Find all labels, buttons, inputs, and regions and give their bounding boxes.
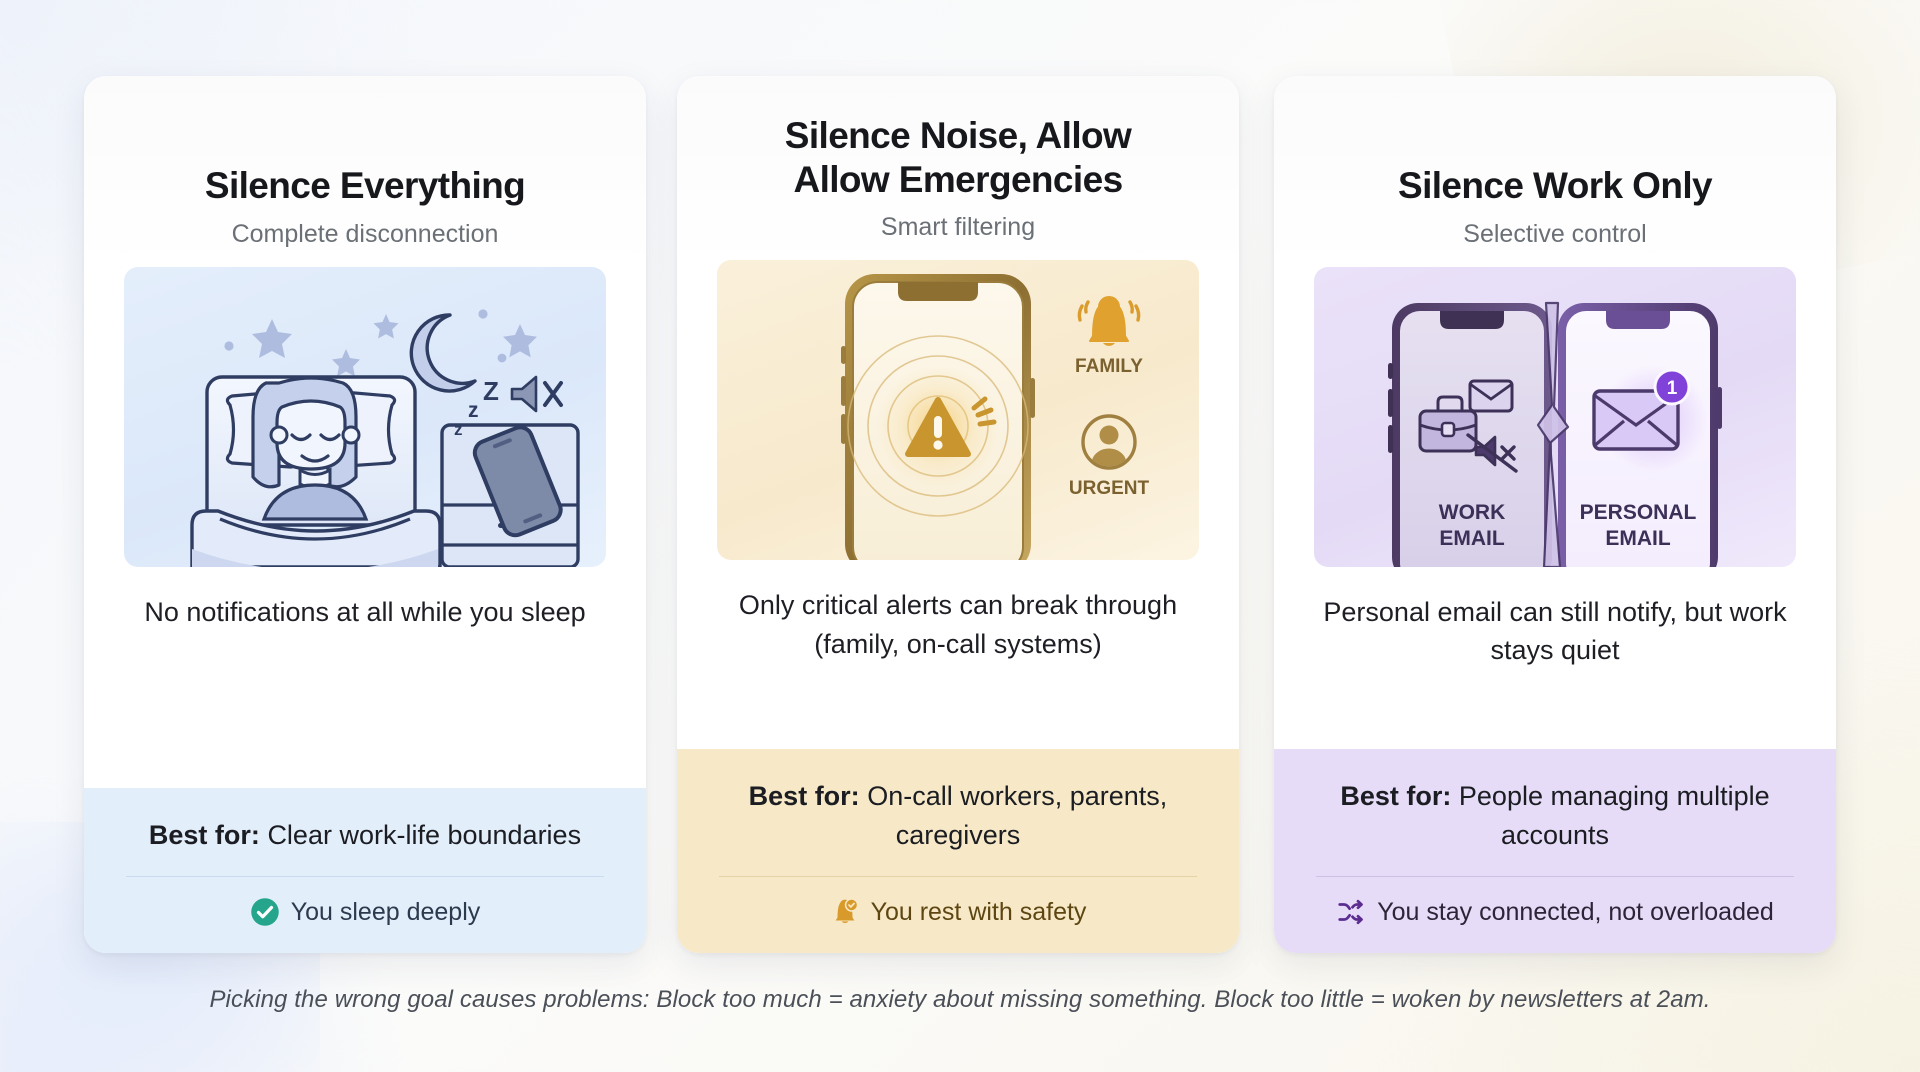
split-phone-email-icon: WORK EMAIL [1314, 267, 1796, 567]
footer-divider [126, 876, 604, 877]
card-footer: Best for: Clear work-life boundaries You… [84, 788, 646, 953]
badge-label-urgent: URGENT [1069, 478, 1150, 499]
best-for-value: On-call workers, parents, caregivers [867, 781, 1167, 849]
card-silence-noise-allow-emergencies[interactable]: Silence Noise, Allow Allow Emergencies S… [677, 76, 1239, 953]
comparison-card-grid: Silence Everything Complete disconnectio… [0, 0, 1920, 1072]
outcome-text: You stay connected, not overloaded [1377, 898, 1774, 927]
page-footnote: Picking the wrong goal causes problems: … [0, 986, 1920, 1014]
best-for-line: Best for: People managing multiple accou… [1312, 777, 1798, 854]
card-title-line-2: Allow Emergencies [707, 158, 1209, 202]
svg-text:z: z [468, 399, 479, 422]
outcome-text: You sleep deeply [291, 898, 481, 927]
card-subtitle: Selective control [1304, 220, 1806, 249]
footer-divider [719, 876, 1197, 877]
badge-label-family: FAMILY [1075, 356, 1143, 377]
card-header: Silence Everything Complete disconnectio… [84, 76, 646, 249]
check-circle-icon [250, 897, 280, 927]
card-silence-work-only[interactable]: Silence Work Only Selective control [1274, 76, 1836, 953]
illustration-container: WORK EMAIL [1274, 249, 1836, 567]
best-for-value: Clear work-life boundaries [267, 820, 581, 850]
card-title: Silence Noise, Allow Allow Emergencies [707, 114, 1209, 201]
card-subtitle: Smart filtering [707, 213, 1209, 242]
card-footer: Best for: On-call workers, parents, care… [677, 749, 1239, 953]
notification-badge-count: 1 [1667, 378, 1678, 399]
best-for-line: Best for: On-call workers, parents, care… [715, 777, 1201, 854]
shuffle-icon [1336, 897, 1366, 927]
card-header: Silence Work Only Selective control [1274, 76, 1836, 249]
screen-label-work-line2: EMAIL [1439, 527, 1505, 550]
illustration-container: z z Z [84, 249, 646, 567]
screen-label-personal-line2: EMAIL [1605, 527, 1671, 550]
card-silence-everything[interactable]: Silence Everything Complete disconnectio… [84, 76, 646, 953]
card-title-line-1: Silence Noise, Allow [707, 114, 1209, 158]
card-description: No notifications at all while you sleep [118, 593, 612, 631]
card-title: Silence Work Only [1304, 114, 1806, 208]
best-for-label: Best for: [1340, 781, 1451, 811]
card-description-container: Personal email can still notify, but wor… [1274, 567, 1836, 750]
best-for-label: Best for: [749, 781, 860, 811]
card-title: Silence Everything [114, 114, 616, 208]
illustration-container: FAMILY URGENT [677, 242, 1239, 560]
outcome-row: You rest with safety [715, 897, 1201, 927]
outcome-text: You rest with safety [871, 898, 1087, 927]
card-footer: Best for: People managing multiple accou… [1274, 749, 1836, 953]
card-description: Personal email can still notify, but wor… [1308, 593, 1802, 670]
card-subtitle: Complete disconnection [114, 220, 616, 249]
footer-divider [1316, 876, 1794, 877]
svg-text:z: z [454, 420, 463, 439]
phone-alert-icon: FAMILY URGENT [717, 260, 1199, 560]
card-header: Silence Noise, Allow Allow Emergencies S… [677, 76, 1239, 242]
outcome-row: You sleep deeply [122, 897, 608, 927]
screen-label-personal-line1: PERSONAL [1580, 501, 1697, 524]
best-for-label: Best for: [149, 820, 260, 850]
svg-text:Z: Z [483, 376, 499, 406]
screen-label-work-line1: WORK [1439, 501, 1506, 524]
outcome-row: You stay connected, not overloaded [1312, 897, 1798, 927]
best-for-line: Best for: Clear work-life boundaries [122, 816, 608, 854]
card-description-container: No notifications at all while you sleep [84, 567, 646, 788]
card-description-container: Only critical alerts can break through (… [677, 560, 1239, 749]
sleeping-person-icon: z z Z [124, 267, 606, 567]
best-for-value: People managing multiple accounts [1459, 781, 1770, 849]
card-description: Only critical alerts can break through (… [711, 586, 1205, 663]
bell-check-icon [830, 897, 860, 927]
